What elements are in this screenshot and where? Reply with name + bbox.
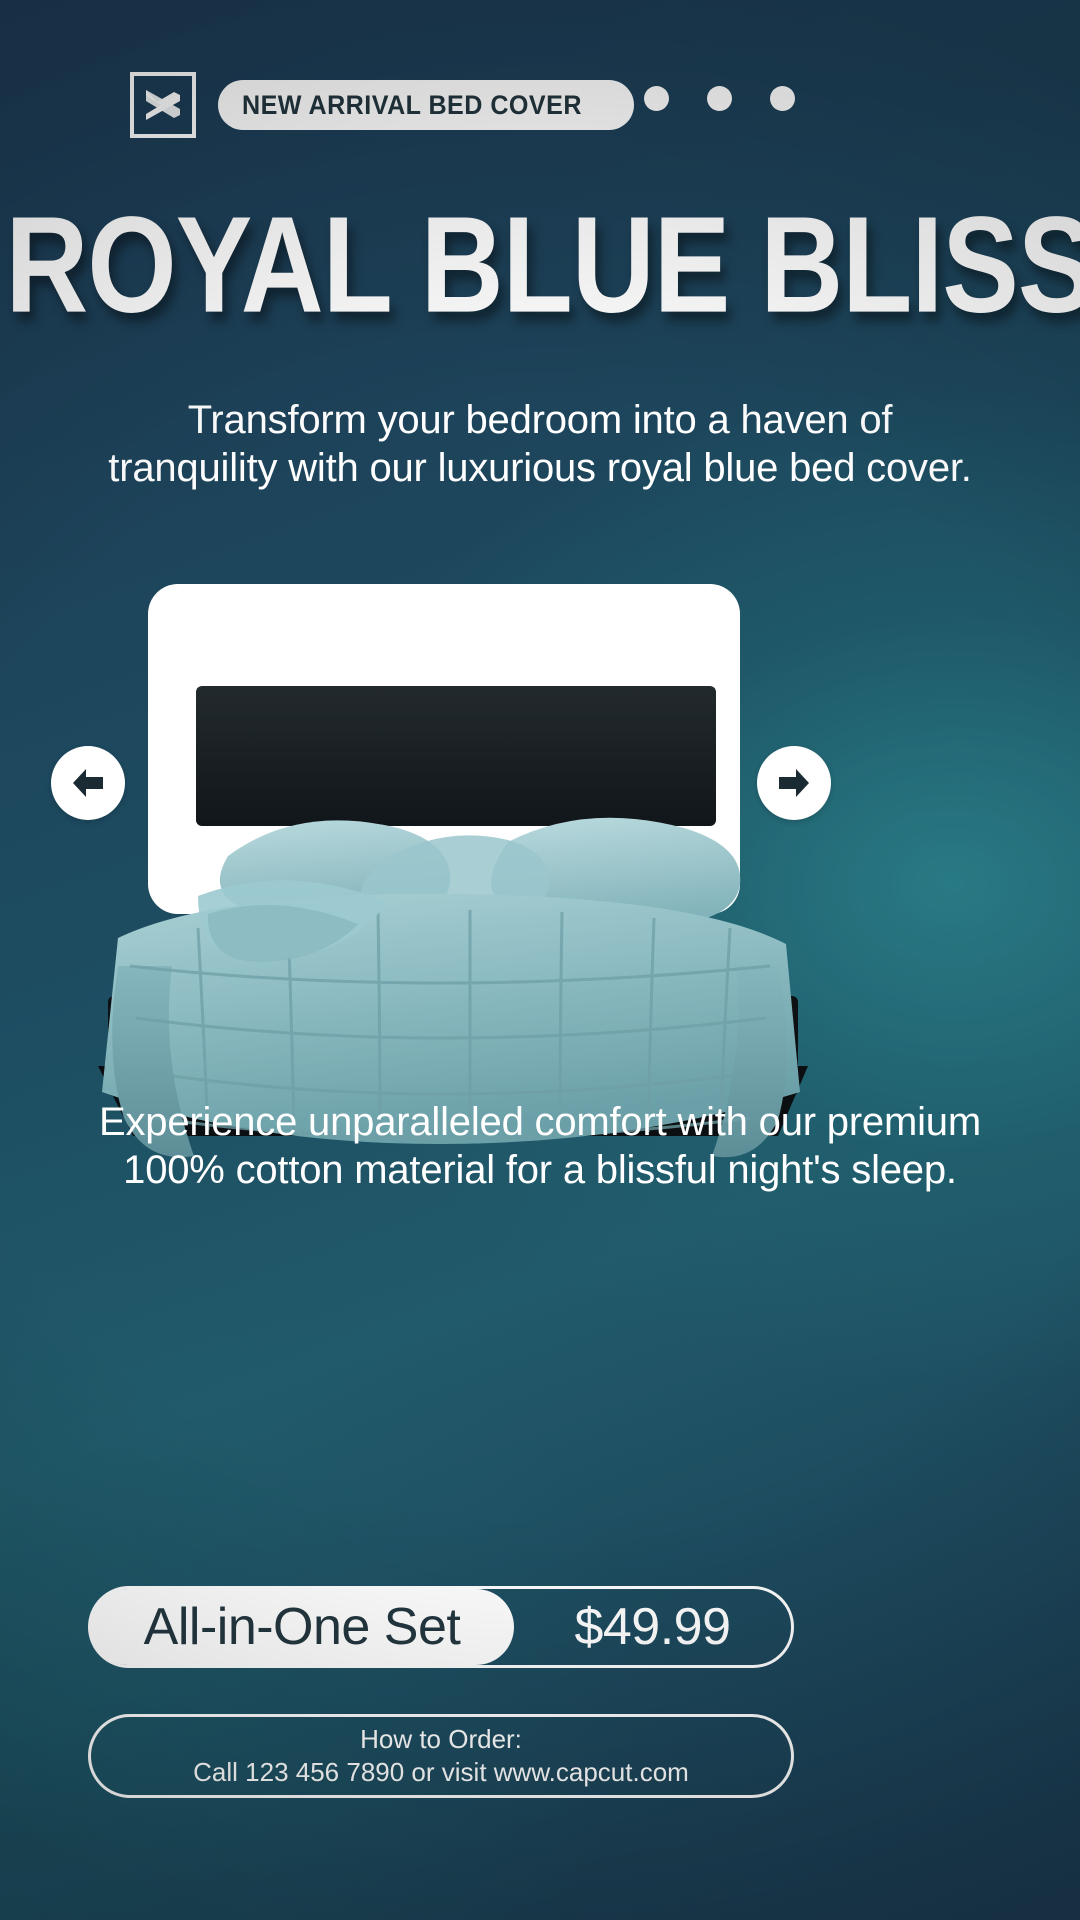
- header-dot: [770, 86, 795, 111]
- promo-poster: NEW ARRIVAL BED COVER ROYAL BLUE BLISS T…: [0, 0, 1080, 1920]
- price-amount: $49.99: [514, 1597, 791, 1657]
- capcut-logo-glyph: [141, 85, 185, 125]
- header-dot: [644, 86, 669, 111]
- intro-paragraph: Transform your bedroom into a haven of t…: [0, 396, 1080, 492]
- price-banner: All-in-One Set $49.99: [88, 1586, 794, 1668]
- header: NEW ARRIVAL BED COVER: [130, 72, 1080, 138]
- set-label-text: All-in-One Set: [144, 1597, 461, 1657]
- header-dots: [644, 86, 795, 111]
- capcut-logo-icon: [130, 72, 196, 138]
- header-dot: [707, 86, 732, 111]
- arrow-left-icon: [67, 762, 109, 804]
- product-carousel: [0, 570, 1080, 1090]
- carousel-next-button[interactable]: [757, 746, 831, 820]
- carousel-prev-button[interactable]: [51, 746, 125, 820]
- how-to-order-contact: Call 123 456 7890 or visit www.capcut.co…: [193, 1758, 689, 1788]
- product-image: [78, 666, 820, 1166]
- how-to-order-box[interactable]: How to Order: Call 123 456 7890 or visit…: [88, 1714, 794, 1798]
- price-amount-text: $49.99: [574, 1597, 730, 1657]
- how-to-order-title: How to Order:: [360, 1725, 522, 1755]
- arrow-right-icon: [773, 762, 815, 804]
- page-title: ROYAL BLUE BLISS: [5, 196, 1074, 333]
- bed-illustration: [78, 666, 820, 1166]
- new-arrival-badge-label: NEW ARRIVAL BED COVER: [242, 90, 582, 121]
- set-label-pill: All-in-One Set: [90, 1589, 514, 1665]
- new-arrival-badge: NEW ARRIVAL BED COVER: [218, 80, 634, 130]
- features-paragraph: Experience unparalleled comfort with our…: [0, 1098, 1080, 1194]
